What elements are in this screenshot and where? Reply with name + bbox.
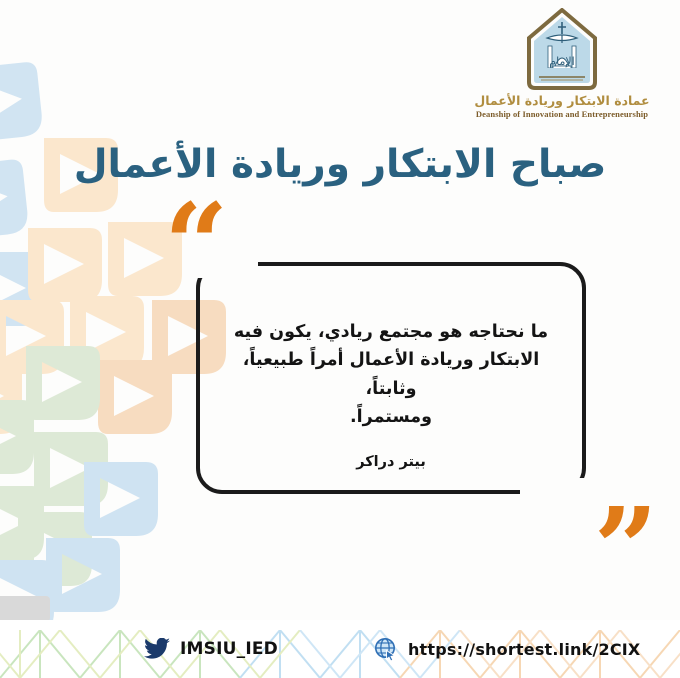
quote-text: ما نحتاجه هو مجتمع ريادي، يكون فيه الابت… (218, 318, 564, 431)
quote-line-3: ومستمراً. (218, 403, 564, 431)
brand-logo: الإمام عمادة الابتكار وريادة الأعمال Dea… (462, 8, 662, 119)
svg-text:الإمام: الإمام (549, 55, 574, 68)
imsiu-deanship-crest-icon: الإمام (525, 8, 599, 90)
logo-english-name: Deanship of Innovation and Entrepreneurs… (462, 109, 662, 119)
poster-canvas: الإمام عمادة الابتكار وريادة الأعمال Dea… (0, 0, 680, 678)
twitter-bird-icon[interactable] (144, 638, 170, 660)
quote-close-mark: ” (594, 494, 658, 606)
quote-open-mark: “ (164, 190, 228, 302)
quote-line-1: ما نحتاجه هو مجتمع ريادي، يكون فيه (218, 318, 564, 346)
page-title: صباح الابتكار وريادة الأعمال (0, 144, 680, 187)
twitter-handle-group[interactable]: IMSIU_IED (144, 638, 278, 660)
frame-notch-bottom-right (520, 478, 594, 504)
logo-arabic-name: عمادة الابتكار وريادة الأعمال (462, 94, 662, 108)
footer-bar: IMSIU_IED https://shortest.link/2CIX (0, 620, 680, 678)
website-url-text: https://shortest.link/2CIX (408, 640, 641, 659)
twitter-handle-text: IMSIU_IED (180, 639, 278, 659)
globe-cursor-icon[interactable] (374, 637, 398, 661)
quote-author: بيتر دراكر (196, 454, 586, 470)
website-link-group[interactable]: https://shortest.link/2CIX (374, 637, 641, 661)
quote-line-2: الابتكار وريادة الأعمال أمراً طبيعياً، و… (218, 346, 564, 403)
quote-block: “ ” ما نحتاجه هو مجتمع ريادي، يكون فيه ا… (196, 262, 586, 494)
